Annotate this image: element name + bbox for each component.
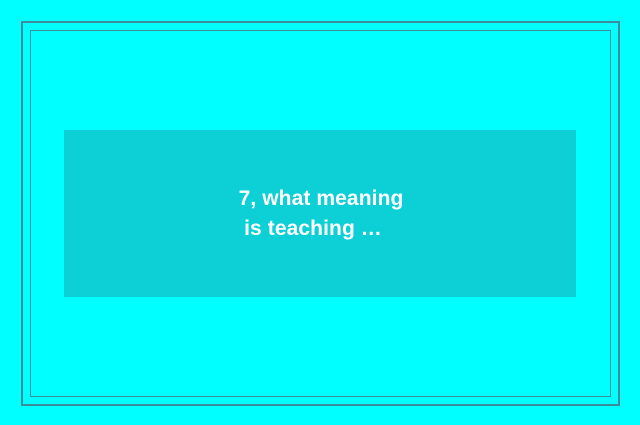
slide-canvas: 7, what meaning is teaching …	[0, 0, 640, 425]
banner-text-line-1: 7, what meaning	[237, 184, 404, 214]
banner-text-line-2: is teaching …	[244, 214, 396, 244]
content-banner: 7, what meaning is teaching …	[64, 130, 576, 297]
